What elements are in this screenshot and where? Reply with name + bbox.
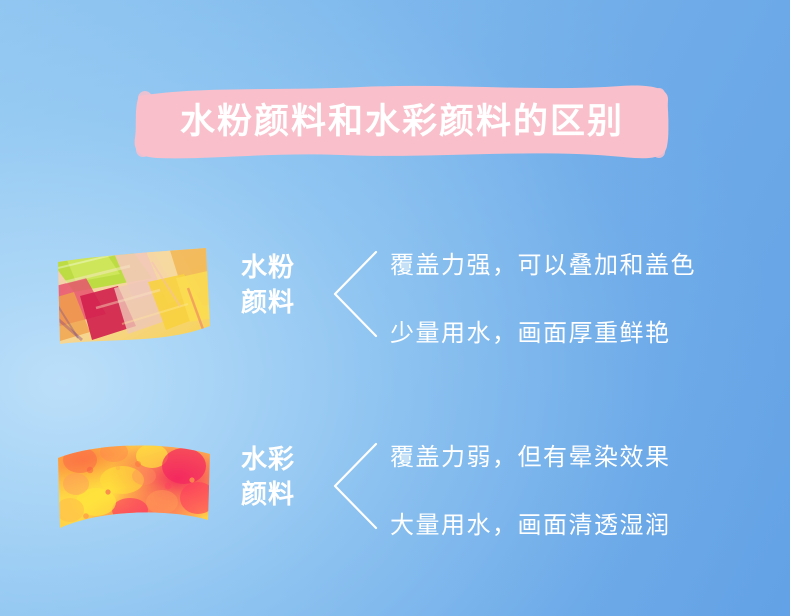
row-label-watercolor: 水彩 颜料 — [241, 442, 327, 512]
row-label-gouache: 水粉 颜料 — [241, 250, 327, 320]
chevron-bracket — [330, 440, 380, 532]
chevron-bracket — [330, 248, 380, 340]
chevron-bracket-icon — [330, 440, 380, 532]
comparison-row-watercolor: 水彩 颜料 覆盖力弱，但有晕染效果 大量用水，画面清透湿润 — [0, 432, 790, 552]
gouache-paint-swatch — [56, 248, 212, 344]
watercolor-paint-swatch — [56, 440, 212, 536]
comparison-row-gouache: 水粉 颜料 覆盖力强，可以叠加和盖色 少量用水，画面厚重鲜艳 — [0, 240, 790, 360]
row-label-line-1: 水粉 — [241, 250, 327, 285]
description-line: 覆盖力强，可以叠加和盖色 — [390, 254, 696, 278]
title-banner: 水粉颜料和水彩颜料的区别 — [131, 80, 673, 164]
row-descriptions-gouache: 覆盖力强，可以叠加和盖色 少量用水，画面厚重鲜艳 — [390, 240, 750, 360]
poster-canvas: 水粉颜料和水彩颜料的区别 — [0, 0, 790, 616]
row-descriptions-watercolor: 覆盖力弱，但有晕染效果 大量用水，画面清透湿润 — [390, 432, 750, 552]
row-label-line-2: 颜料 — [241, 477, 327, 512]
chevron-bracket-icon — [330, 248, 380, 340]
description-line: 大量用水，画面清透湿润 — [390, 514, 671, 538]
description-line: 覆盖力弱，但有晕染效果 — [390, 446, 671, 470]
gouache-swatch-image — [56, 248, 212, 344]
description-line: 少量用水，画面厚重鲜艳 — [390, 322, 671, 346]
row-label-line-1: 水彩 — [241, 442, 327, 477]
watercolor-swatch-image — [56, 440, 212, 536]
page-title: 水粉颜料和水彩颜料的区别 — [131, 80, 673, 164]
row-label-line-2: 颜料 — [241, 285, 327, 320]
